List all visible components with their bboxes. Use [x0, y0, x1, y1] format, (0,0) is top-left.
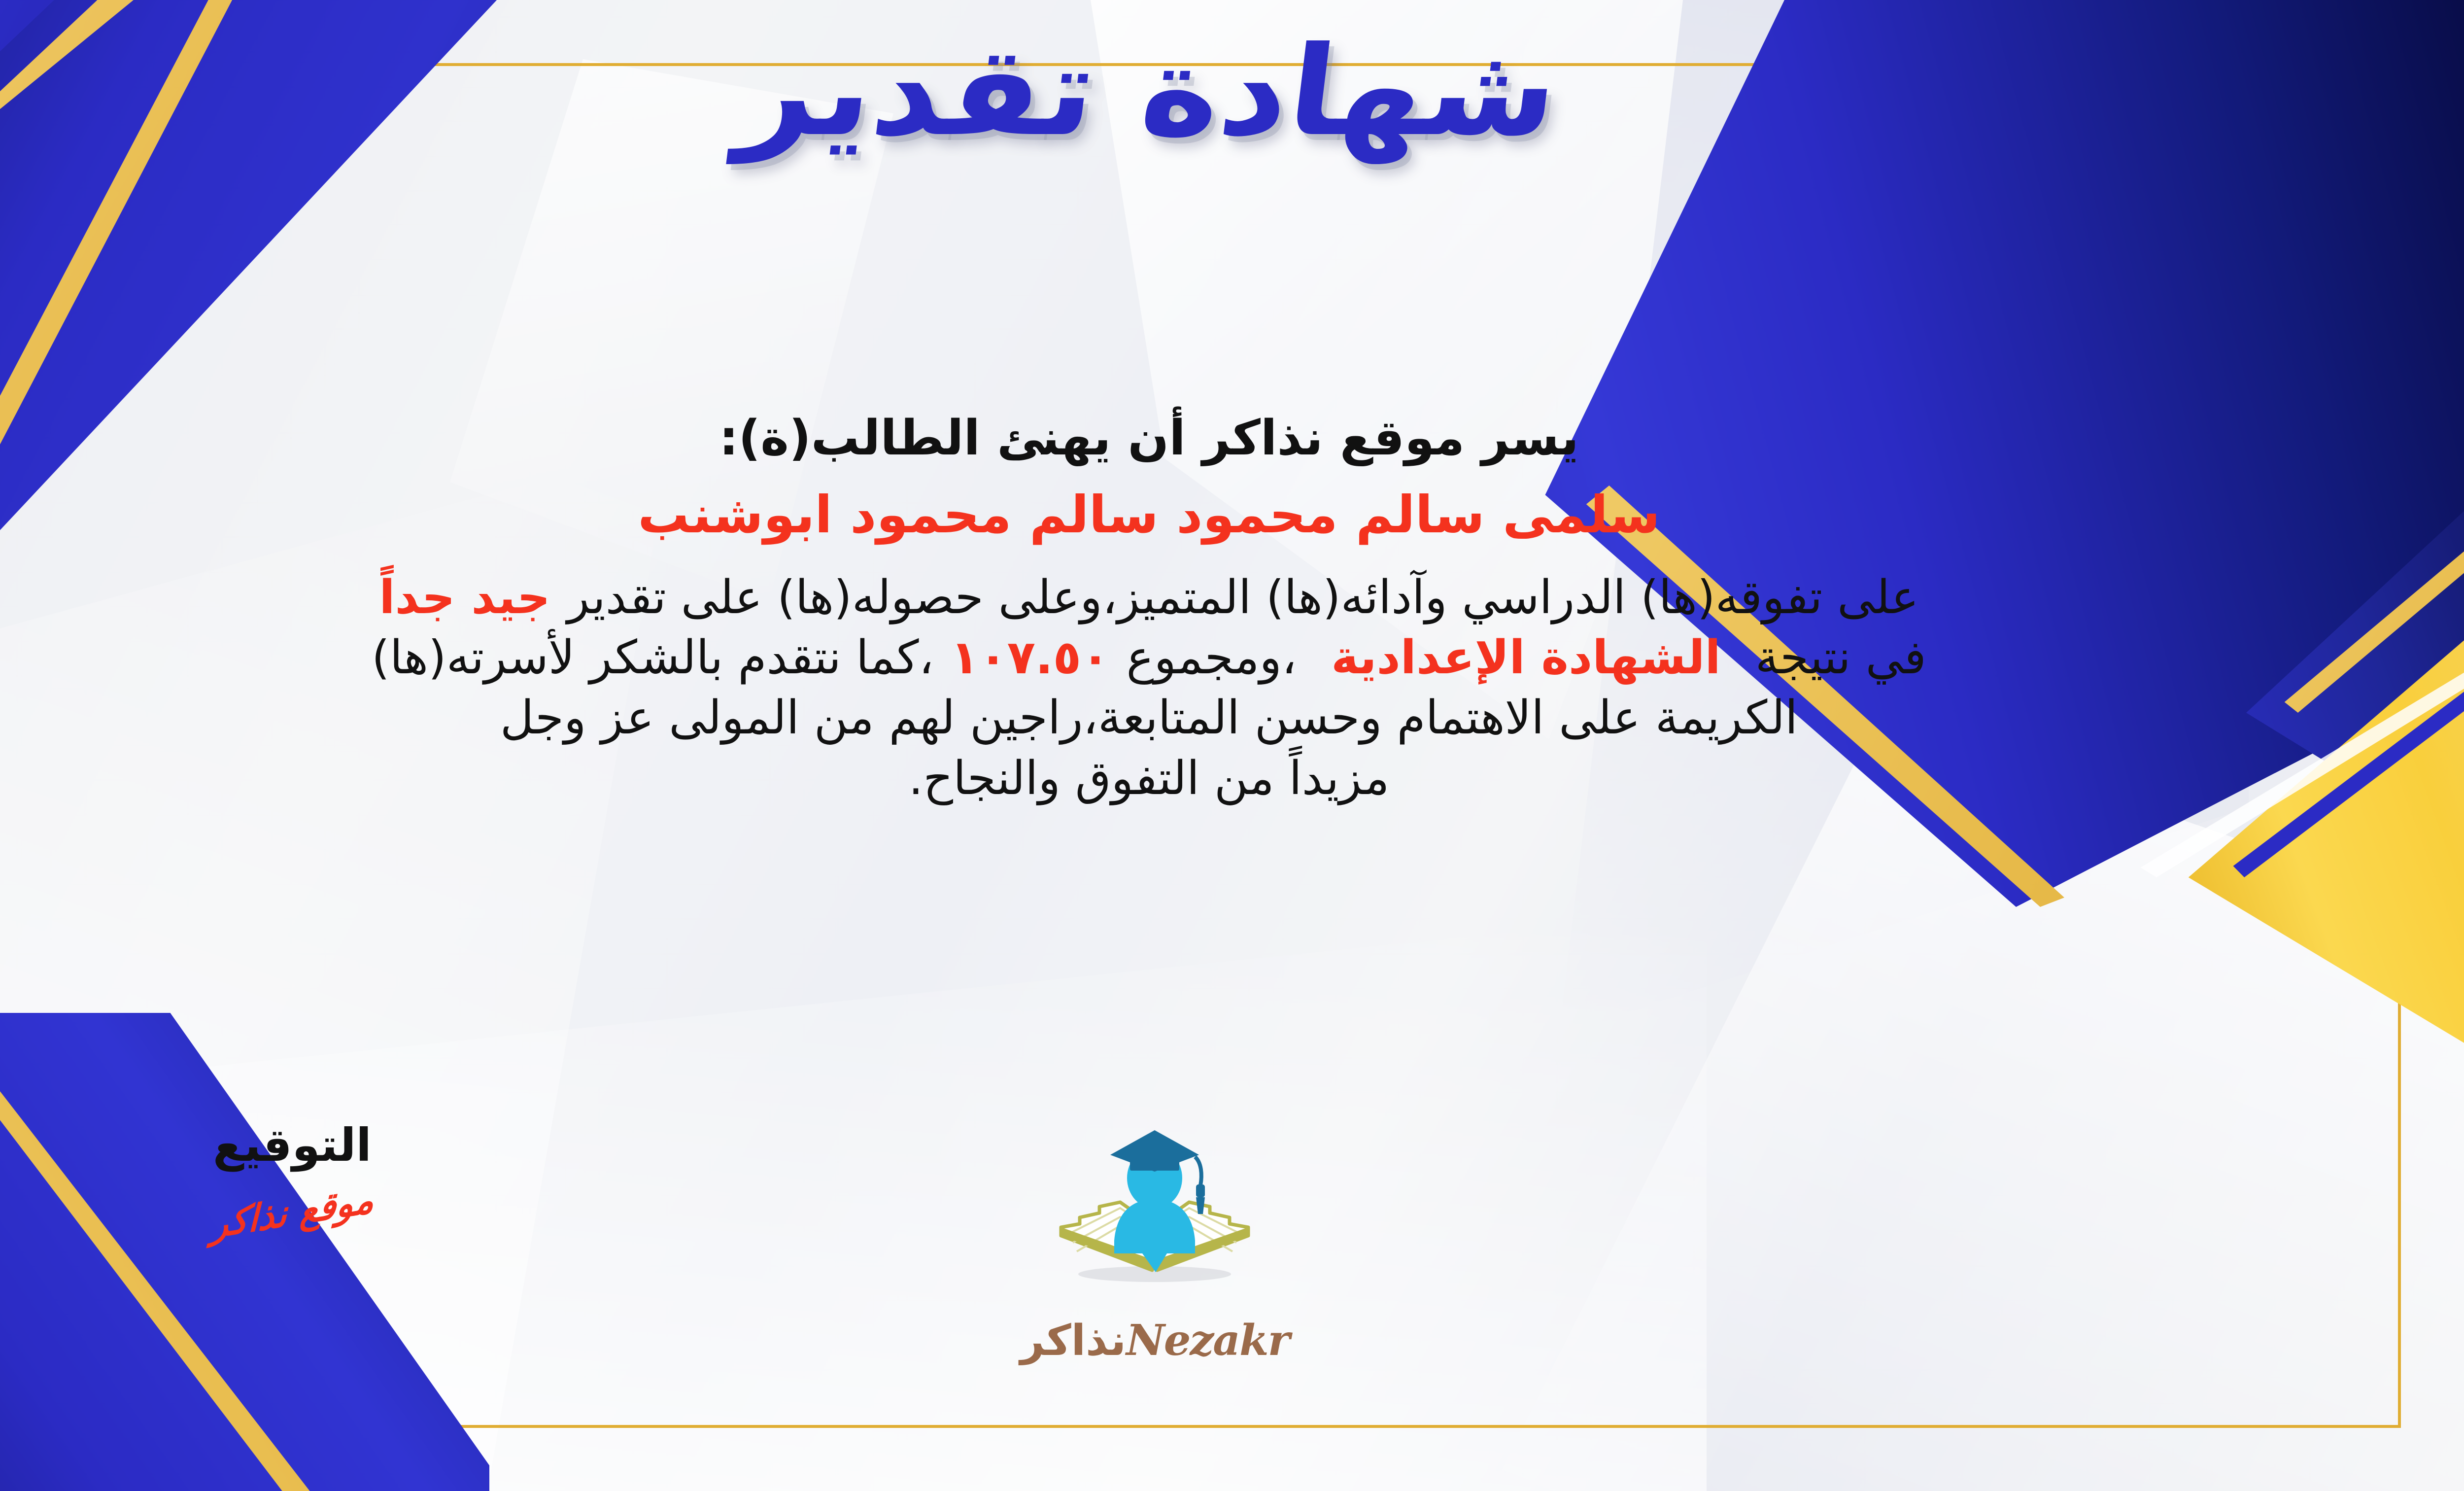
citation-text-a: على تفوقه(ها) الدراسي وآدائه(ها) المتميز… [567, 571, 1919, 624]
brand-logo: Nezakrنذاكر [982, 1126, 1327, 1365]
background-facet [1485, 715, 2464, 1491]
signature-handwritten: موقع نذاكر [210, 1178, 374, 1247]
certificate-title-wrap: شهادة تقدير [0, 27, 2464, 157]
grade-value: جيد جداً [379, 571, 550, 624]
citation-text-b: في نتيجة [1755, 631, 1926, 685]
brand-name-arabic: نذاكر [1020, 1316, 1126, 1365]
citation-line-2: في نتيجةالشهادة الإعدادية،ومجموع١٠٧.٥٠،ك… [0, 628, 2341, 688]
total-score: ١٠٧.٥٠ [951, 631, 1110, 685]
graduate-book-icon [1051, 1126, 1258, 1318]
certificate-canvas: شهادة تقدير يسر موقع نذاكر أن يهنئ الطال… [0, 0, 2464, 1491]
signature-block: التوقيع موقع نذاكر [110, 1119, 475, 1234]
citation-line-1: على تفوقه(ها) الدراسي وآدائه(ها) المتميز… [0, 568, 2341, 628]
student-name: سلمى سالم محمود سالم محمود ابوشنب [0, 489, 2341, 540]
certificate-title: شهادة تقدير [732, 27, 1565, 157]
citation-text-d: ،كما نتقدم بالشكر لأسرته(ها) [372, 631, 934, 685]
exam-name: الشهادة الإعدادية [1331, 631, 1720, 685]
citation-paragraph: على تفوقه(ها) الدراسي وآدائه(ها) المتميز… [0, 568, 2341, 809]
certificate-body: يسر موقع نذاكر أن يهنئ الطالب(ة): سلمى س… [0, 414, 2341, 809]
signature-label: التوقيع [110, 1119, 475, 1172]
citation-line-3: الكريمة على الاهتمام وحسن المتابعة،راجين… [0, 688, 2341, 748]
corner-ornament-bottom-left-outer [0, 1249, 253, 1491]
corner-ornament-bottom-left [0, 1013, 489, 1491]
brand-logo-text: Nezakrنذاكر [982, 1316, 1327, 1365]
greeting-line: يسر موقع نذاكر أن يهنئ الطالب(ة): [0, 414, 2341, 462]
citation-text-c: ،ومجموع [1126, 631, 1297, 685]
brand-name-latin: Nezakr [1126, 1316, 1289, 1365]
citation-line-4: مزيداً من التفوق والنجاح. [0, 749, 2341, 809]
